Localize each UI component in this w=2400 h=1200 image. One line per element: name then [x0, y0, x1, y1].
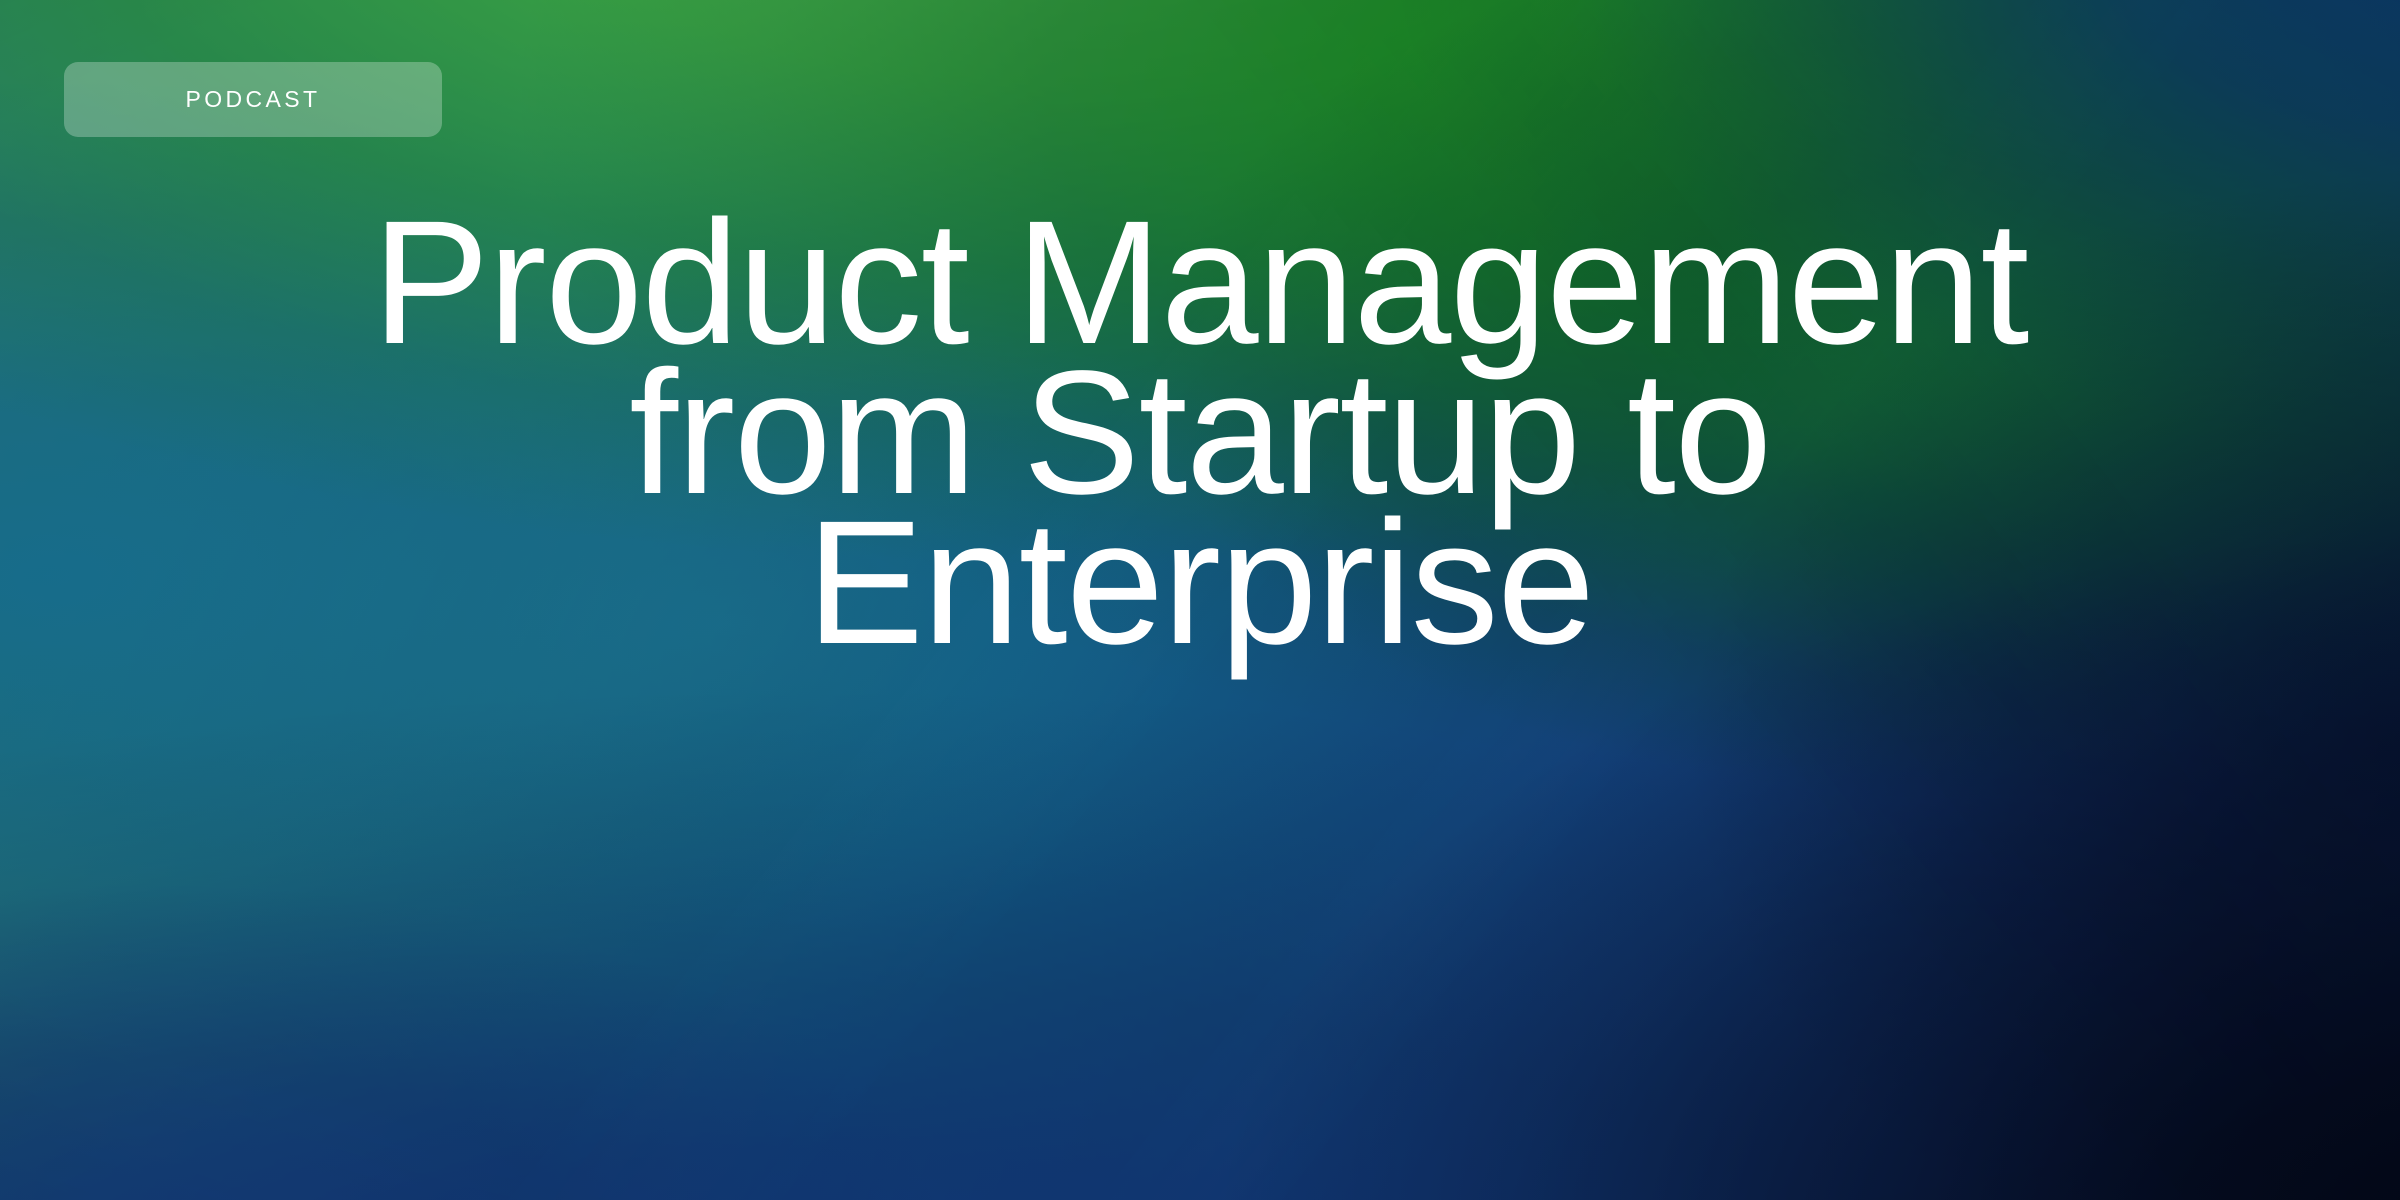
podcast-title-card: PODCAST Product Management from Startup …: [0, 0, 2400, 1200]
category-badge-label: PODCAST: [186, 88, 321, 111]
category-badge[interactable]: PODCAST: [64, 62, 442, 137]
page-title-line-3: Enterprise: [806, 508, 1593, 658]
page-title: Product Management from Startup to Enter…: [0, 208, 2400, 658]
